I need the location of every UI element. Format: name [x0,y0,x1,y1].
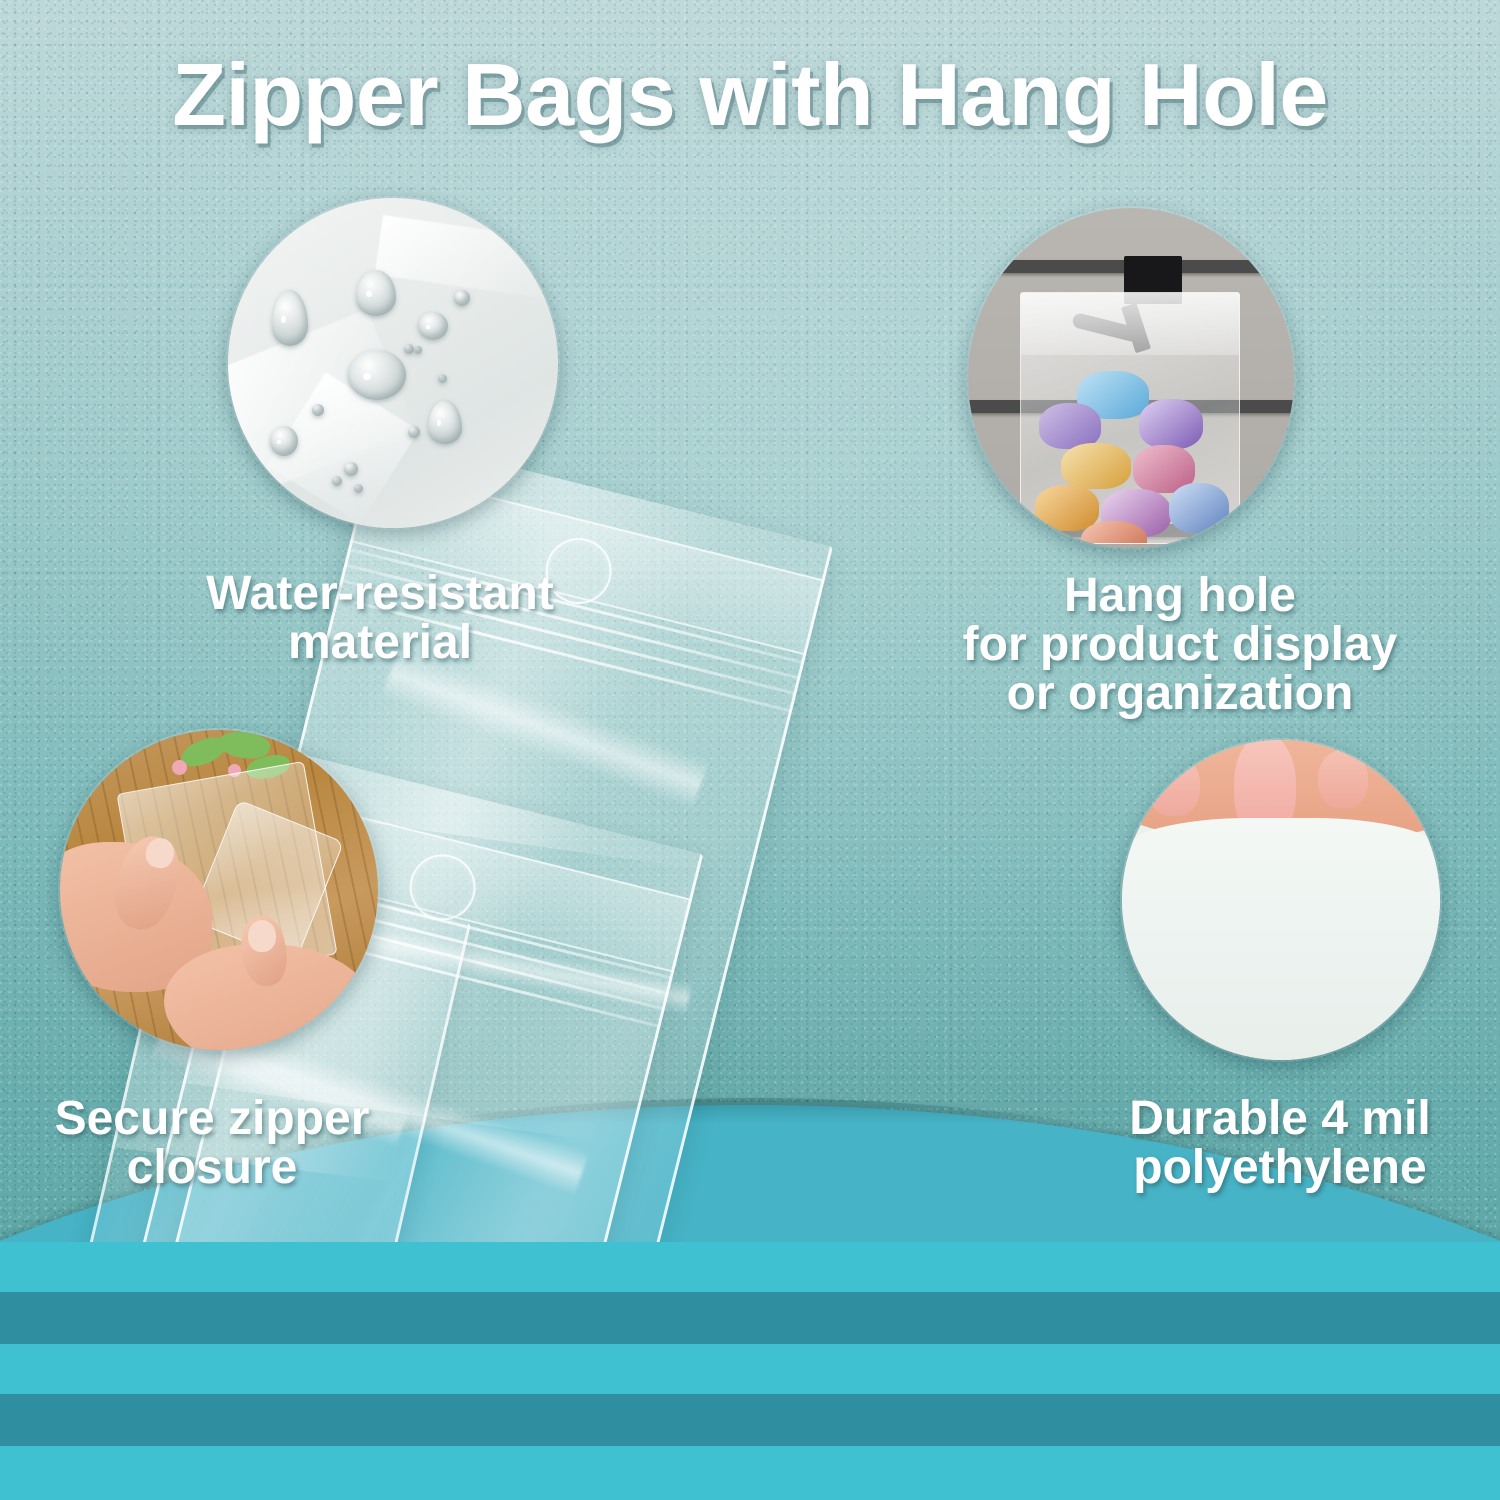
water-droplet [428,400,462,444]
water-droplet [408,426,420,438]
slatwall-hook-scene [968,208,1294,548]
caption-line: Water-resistant [95,570,665,619]
water-droplet [332,476,342,486]
fingernail [248,920,276,952]
water-droplet [356,270,396,316]
color-band [0,1344,1500,1394]
water-droplet [348,350,406,400]
color-band [0,1292,1500,1344]
inset-photo-durable-polyethylene [1122,740,1440,1060]
hanging-candy-bag [1020,292,1240,544]
inset-photo-water-resistant [228,198,558,528]
page-title: Zipper Bags with Hang Hole [0,44,1500,146]
feature-label-hang-hole: Hang hole for product display or organiz… [880,572,1480,719]
hands-zipper-scene [60,730,378,1050]
water-droplet [454,290,470,306]
caption-line: polyethylene [1055,1144,1500,1193]
plastic-film-fold [375,215,558,301]
water-droplet [312,404,324,416]
bottom-color-bands [0,1242,1500,1500]
candy [1035,485,1099,531]
water-droplet [272,290,308,346]
caption-line: for product display [880,621,1480,670]
fingernail [1148,754,1200,816]
feature-label-secure-zipper: Secure zipper closure [0,1095,432,1193]
product-infographic: Zipper Bags with Hang Hole Water-resista… [0,0,1500,1500]
water-droplet [354,484,363,493]
inset-photo-secure-zipper [60,730,378,1050]
caption-line: material [95,619,665,668]
water-droplet-scene [228,198,558,528]
candy [1139,399,1203,449]
fingernail [1318,750,1368,808]
color-band [0,1242,1500,1292]
foliage-bud [172,760,187,775]
polyethylene-film [1122,818,1440,1060]
candy [1169,483,1229,533]
candy [1061,443,1131,489]
water-droplet [438,374,447,383]
feature-label-durable-polyethylene: Durable 4 mil polyethylene [1055,1095,1500,1193]
caption-line: Secure zipper [0,1095,432,1144]
water-droplet [270,426,298,456]
water-droplet [404,344,414,354]
caption-line: Hang hole [880,572,1480,621]
caption-line: closure [0,1144,432,1193]
caption-line: or organization [880,670,1480,719]
caption-line: Durable 4 mil [1055,1095,1500,1144]
color-band [0,1394,1500,1446]
water-droplet [344,462,358,476]
polyethylene-pinch-scene [1122,740,1440,1060]
feature-label-water-resistant: Water-resistant material [95,570,665,668]
water-droplet [414,346,422,354]
water-droplet [418,312,448,340]
inset-photo-hang-hole [968,208,1294,548]
color-band [0,1446,1500,1500]
